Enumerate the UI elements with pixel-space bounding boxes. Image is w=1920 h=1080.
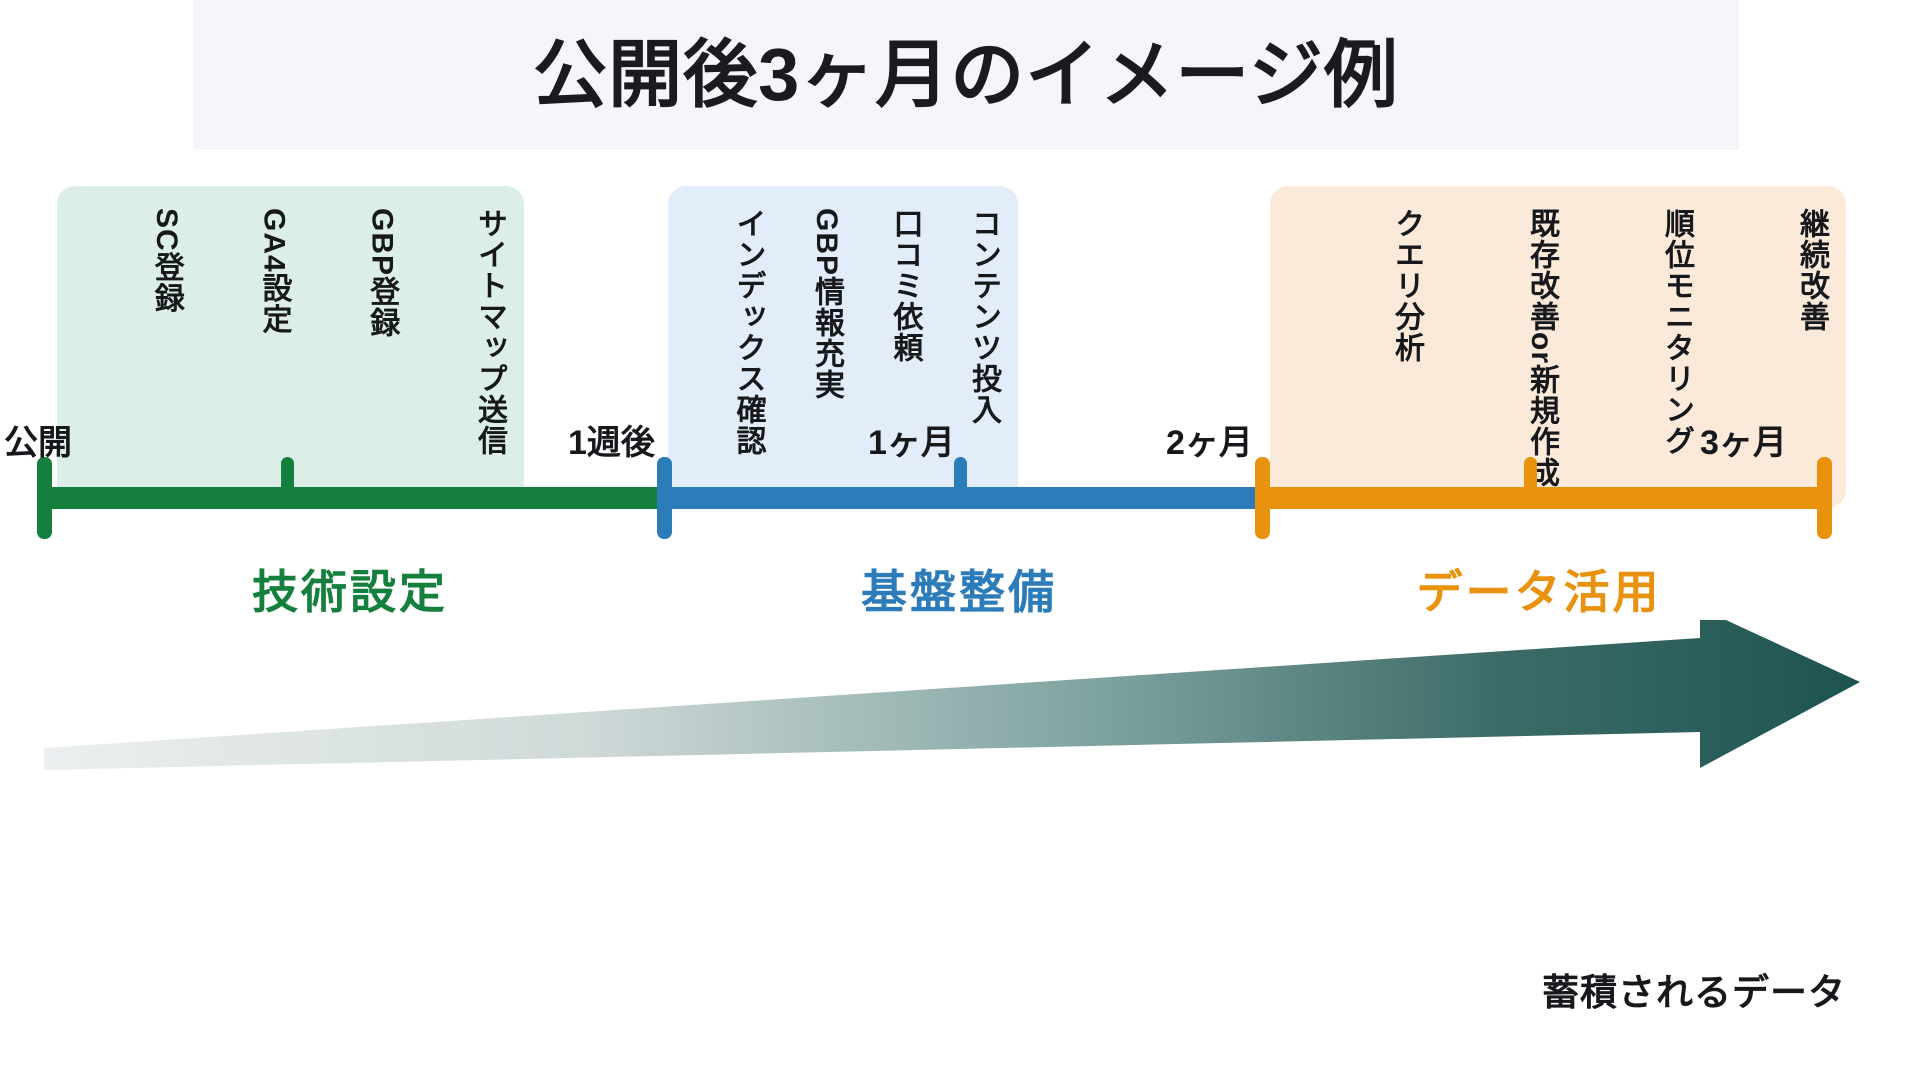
- task-label: インデックス確認: [686, 208, 765, 508]
- growth-arrow: [0, 620, 1920, 860]
- task-label: GBP登録: [291, 208, 399, 508]
- task-label: 既存改善or新規作成: [1423, 208, 1558, 508]
- task-label: 順位モニタリング: [1558, 208, 1693, 508]
- phase-task-list: インデックス確認GBP情報充実口コミ依頼コンテンツ投入: [668, 186, 1018, 508]
- phase-name-1: 技術設定: [40, 556, 660, 622]
- axis-tick-major: [1255, 457, 1270, 539]
- growth-caption: 蓄積されるデータ: [1542, 962, 1846, 1016]
- phase-panel-3: クエリ分析既存改善or新規作成順位モニタリング継続改善: [1270, 186, 1846, 508]
- phase-panel-2: インデックス確認GBP情報充実口コミ依頼コンテンツ投入: [668, 186, 1018, 508]
- task-label: SC登録: [75, 208, 183, 508]
- axis-tick-major: [37, 457, 52, 539]
- phase-panel-1: SC登録GA4設定GBP登録サイトマップ送信: [57, 186, 524, 508]
- arrow-shape: [44, 620, 1860, 770]
- milestone-label: 2ヶ月: [1166, 415, 1253, 464]
- phase-task-list: SC登録GA4設定GBP登録サイトマップ送信: [57, 186, 524, 508]
- phase-task-list: クエリ分析既存改善or新規作成順位モニタリング継続改善: [1270, 186, 1846, 508]
- task-label: GBP情報充実: [765, 208, 844, 508]
- task-label: サイトマップ送信: [398, 208, 506, 508]
- timeline-axis: 技術設定基盤整備データ活用公開1週後1ヶ月2ヶ月3ヶ月: [0, 0, 1920, 1080]
- task-label: 継続改善: [1693, 208, 1828, 508]
- title-band: 公開後3ヶ月のイメージ例: [193, 0, 1739, 150]
- task-label: GA4設定: [183, 208, 291, 508]
- infographic-canvas: 公開後3ヶ月のイメージ例 SC登録GA4設定GBP登録サイトマップ送信インデック…: [0, 0, 1920, 1080]
- milestone-label: 1週後: [568, 415, 655, 464]
- phase-name-2: 基盤整備: [660, 556, 1258, 622]
- task-label: コンテンツ投入: [922, 208, 1001, 508]
- task-label: 口コミ依頼: [843, 208, 922, 508]
- task-label: クエリ分析: [1288, 208, 1423, 508]
- phase-name-3: データ活用: [1258, 556, 1820, 622]
- page-title: 公開後3ヶ月のイメージ例: [533, 38, 1399, 112]
